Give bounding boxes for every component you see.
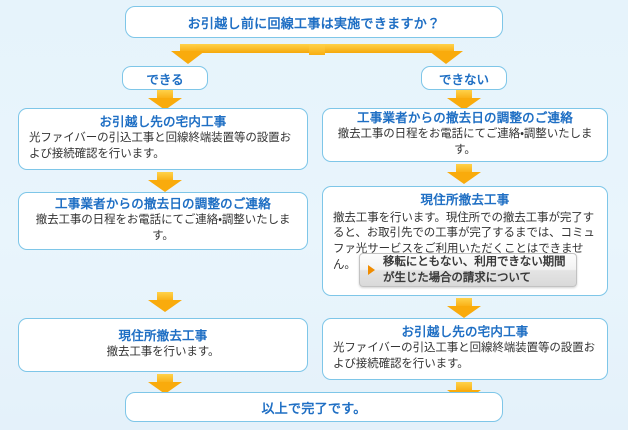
right-node-3: お引越し先の宅内工事 光ファイバーの引込工事と回線終端装置等の設置および接続確認… bbox=[322, 318, 608, 380]
arrow-no-to-right-1 bbox=[447, 90, 481, 110]
left-node-1-body: 光ファイバーの引込工事と回線終端装置等の設置および接続確認を行います。 bbox=[19, 131, 307, 163]
question-banner: お引越し前に回線工事は実施できますか？ bbox=[125, 6, 503, 38]
left-node-2-body: 撤去工事の日程をお電話にてご連絡・調整いたします。 bbox=[19, 213, 307, 245]
final-text: 以上で完了です。 bbox=[261, 398, 366, 417]
right-node-1: 工事業者からの撤去日の調整のご連絡 撤去工事の日程をお電話にてご連絡・調整いたし… bbox=[322, 108, 608, 162]
left-node-3-body: 撤去工事を行います。 bbox=[19, 345, 307, 361]
right-node-2: 現住所撤去工事 撤去工事を行います。現住所での撤去工事が完了すると、お取引先での… bbox=[322, 186, 608, 296]
left-node-3-title: 現住所撤去工事 bbox=[19, 329, 307, 345]
arrow-right-2-to-3 bbox=[447, 298, 481, 318]
left-node-2: 工事業者からの撤去日の調整のご連絡 撤去工事の日程をお電話にてご連絡・調整いたし… bbox=[18, 192, 308, 250]
right-node-3-body: 光ファイバーの引込工事と回線終端装置等の設置および接続確認を行います。 bbox=[323, 341, 607, 373]
arrow-left-1-to-2 bbox=[148, 172, 182, 192]
split-connector bbox=[172, 44, 462, 66]
triangle-bullet-icon bbox=[368, 265, 375, 275]
final-banner: 以上で完了です。 bbox=[125, 392, 503, 422]
left-node-2-title: 工事業者からの撤去日の調整のご連絡 bbox=[19, 197, 307, 213]
billing-info-link-label: 移転にともない、利用できない期間が生じた場合の請求について bbox=[383, 254, 576, 286]
flowchart-canvas: お引越し前に回線工事は実施できますか？ できる できない お引越し先の宅内工事 … bbox=[0, 0, 628, 430]
arrow-yes-to-left-1 bbox=[148, 90, 182, 110]
right-node-3-title: お引越し先の宅内工事 bbox=[323, 325, 607, 341]
left-node-1: お引越し先の宅内工事 光ファイバーの引込工事と回線終端装置等の設置および接続確認… bbox=[18, 108, 308, 170]
billing-info-link-button[interactable]: 移転にともない、利用できない期間が生じた場合の請求について bbox=[359, 253, 577, 287]
arrow-right-1-to-2 bbox=[447, 164, 481, 184]
branch-pill-yes: できる bbox=[122, 66, 208, 90]
right-node-1-title: 工事業者からの撤去日の調整のご連絡 bbox=[323, 111, 607, 127]
right-node-2-title: 現住所撤去工事 bbox=[323, 193, 607, 209]
branch-no-label: できない bbox=[439, 69, 489, 88]
question-text: お引越し前に回線工事は実施できますか？ bbox=[188, 13, 441, 32]
right-node-1-body: 撤去工事の日程をお電話にてご連絡・調整いたします。 bbox=[323, 127, 607, 159]
left-node-3: 現住所撤去工事 撤去工事を行います。 bbox=[18, 318, 308, 372]
arrow-left-3-to-final bbox=[148, 374, 182, 394]
left-node-1-title: お引越し先の宅内工事 bbox=[19, 115, 307, 131]
branch-yes-label: できる bbox=[146, 69, 183, 88]
branch-pill-no: できない bbox=[421, 66, 507, 90]
arrow-left-2-to-3 bbox=[148, 292, 182, 312]
